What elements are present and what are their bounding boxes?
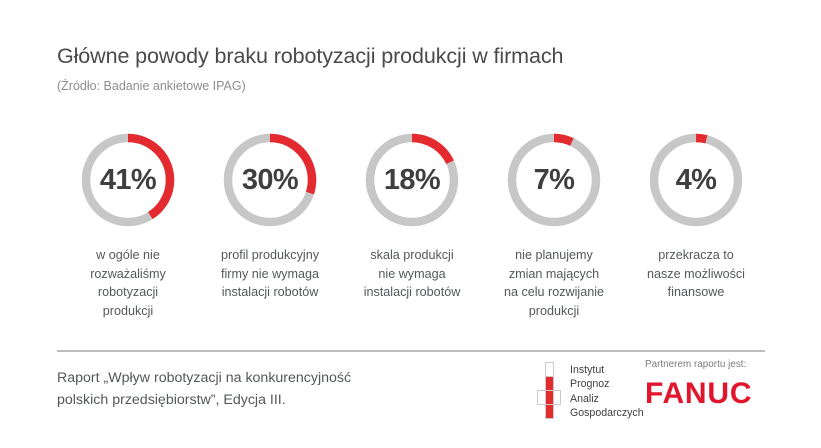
donut-caption: przekracza tonasze możliwościfinansowe <box>626 246 766 302</box>
donut-ring: 4% <box>648 132 744 228</box>
ipag-line-2: Prognoz <box>570 377 644 391</box>
partner-block: Partnerem raportu jest: FANUC <box>645 360 752 409</box>
donut-chart-row: 41% w ogóle nierozważaliśmyrobotyzacjipr… <box>57 132 767 321</box>
partner-kicker: Partnerem raportu jest: <box>645 360 752 370</box>
footer-divider <box>57 350 765 352</box>
ipag-line-1: Instytut <box>570 363 644 377</box>
ipag-mark-icon <box>537 362 563 420</box>
donut-ring: 18% <box>364 132 460 228</box>
donut-percent-label: 18% <box>364 132 460 228</box>
ipag-logo: Instytut Prognoz Analiz Gospodarczych <box>537 362 644 420</box>
ipag-line-4: Gospodarczych <box>570 406 644 420</box>
donut-caption: skala produkcjinie wymagainstalacji robo… <box>342 246 482 302</box>
source-subtitle: (Źródło: Badanie ankietowe IPAG) <box>57 70 777 94</box>
report-title: Raport „Wpływ robotyzacji na konkurencyj… <box>57 367 487 411</box>
donut-item: 41% w ogóle nierozważaliśmyrobotyzacjipr… <box>57 132 199 321</box>
donut-item: 18% skala produkcjinie wymagainstalacji … <box>341 132 483 302</box>
donut-percent-label: 41% <box>80 132 176 228</box>
donut-ring: 7% <box>506 132 602 228</box>
donut-caption: profil produkcyjnyfirmy nie wymagainstal… <box>200 246 340 302</box>
infographic-root: Główne powody braku robotyzacji produkcj… <box>0 0 821 448</box>
page-title: Główne powody braku robotyzacji produkcj… <box>57 44 777 70</box>
donut-caption: nie planujemyzmian mającychna celu rozwi… <box>484 246 624 321</box>
donut-item: 30% profil produkcyjnyfirmy nie wymagain… <box>199 132 341 302</box>
donut-item: 4% przekracza tonasze możliwościfinansow… <box>625 132 767 302</box>
donut-percent-label: 4% <box>648 132 744 228</box>
donut-ring: 30% <box>222 132 318 228</box>
ipag-wordmark: Instytut Prognoz Analiz Gospodarczych <box>570 362 644 420</box>
ipag-line-3: Analiz <box>570 392 644 406</box>
header: Główne powody braku robotyzacji produkcj… <box>57 44 777 94</box>
donut-ring: 41% <box>80 132 176 228</box>
donut-caption: w ogóle nierozważaliśmyrobotyzacjiproduk… <box>58 246 198 321</box>
donut-item: 7% nie planujemyzmian mającychna celu ro… <box>483 132 625 321</box>
donut-percent-label: 30% <box>222 132 318 228</box>
donut-percent-label: 7% <box>506 132 602 228</box>
fanuc-logo: FANUC <box>645 379 752 409</box>
